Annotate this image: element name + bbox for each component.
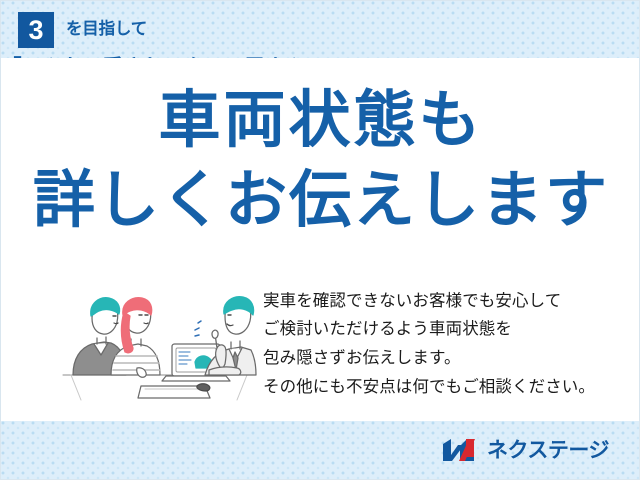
nextage-n-mark-icon xyxy=(442,437,480,463)
body-copy-line-4: その他にも不安点は何でもご相談ください。 xyxy=(263,373,640,402)
banner-header: 3 「みんなに愛されるクルマ屋さん」 を目指して xyxy=(1,1,640,58)
banner-footer: ネクステージ xyxy=(1,421,640,479)
header-title: 「みんなに愛されるクルマ屋さん」 を目指して xyxy=(66,21,147,38)
body-copy-line-1: 実車を確認できないお客様でも安心して xyxy=(263,287,640,316)
illustration-svg xyxy=(59,282,259,407)
header-title-suffix: を目指して xyxy=(66,21,147,38)
nextage-logo: ネクステージ xyxy=(442,437,609,463)
headline-line-1: 車両状態も xyxy=(1,88,640,154)
promotional-banner: 3 「みんなに愛されるクルマ屋さん」 を目指して 車両状態も 詳しくお伝えします xyxy=(0,0,640,480)
body-copy-line-2: ご検討いただけるよう車両状態を xyxy=(263,315,640,344)
lower-content: 実車を確認できないお客様でも安心して ご検討いただけるよう車両状態を 包み隠さず… xyxy=(1,270,640,418)
body-copy: 実車を確認できないお客様でも安心して ご検討いただけるよう車両状態を 包み隠さず… xyxy=(263,287,640,401)
headline: 車両状態も 詳しくお伝えします xyxy=(1,88,640,233)
header-step-badge: 3 xyxy=(18,12,54,48)
banner-main: 車両状態も 詳しくお伝えします xyxy=(1,58,640,421)
body-copy-line-3: 包み隠さずお伝えします。 xyxy=(263,344,640,373)
sales-consultation-illustration xyxy=(59,282,259,407)
headline-line-2: 詳しくお伝えします xyxy=(1,168,640,234)
nextage-logo-text: ネクステージ xyxy=(487,440,609,461)
